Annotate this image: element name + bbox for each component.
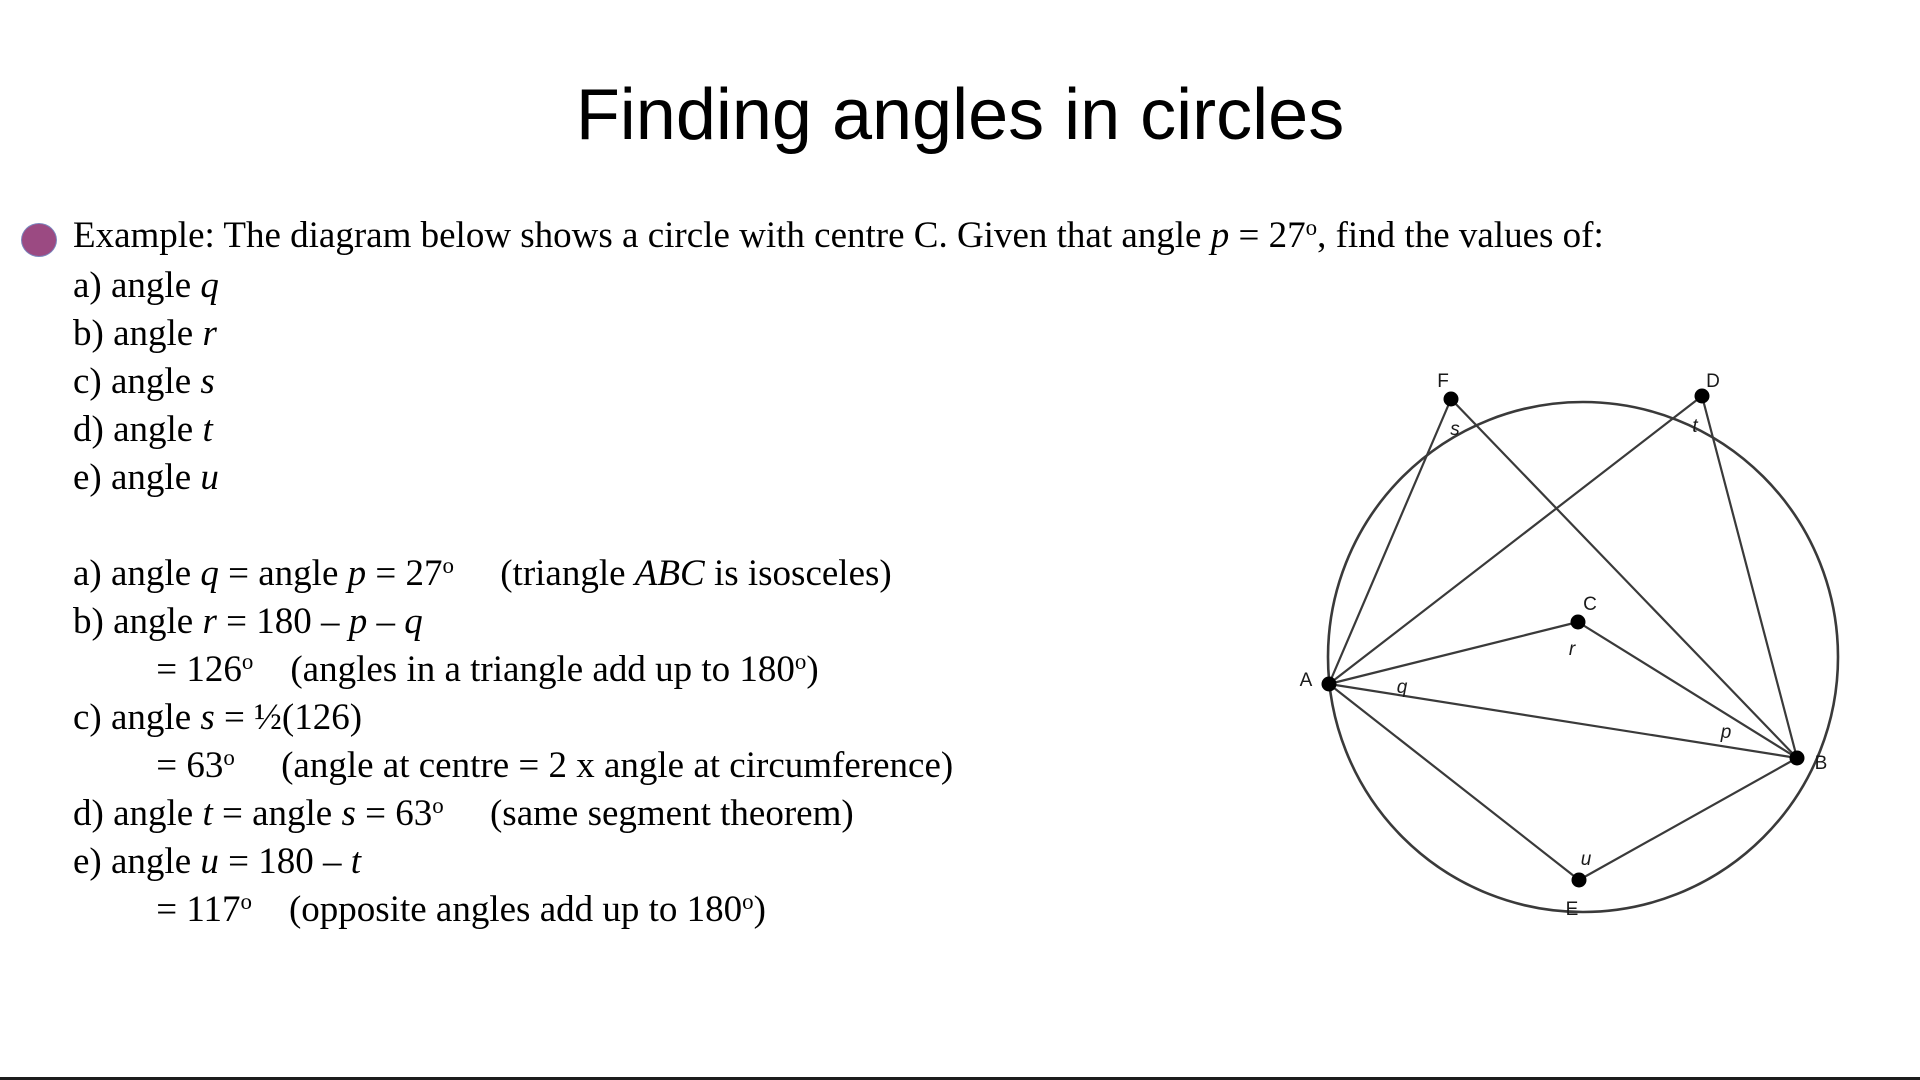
- solution-a-gap: (triangle: [454, 553, 635, 594]
- question-item-b-var: r: [202, 313, 216, 354]
- degree-symbol: o: [432, 793, 443, 818]
- chord-ae: [1329, 684, 1579, 880]
- point-d-label: D: [1706, 371, 1720, 392]
- question-item-e-label: e) angle: [73, 457, 200, 498]
- angle-label-s: s: [1450, 419, 1460, 440]
- question-item-a-var: q: [200, 265, 219, 306]
- solution-b2-p2: (angles in a triangle add up to 180: [253, 649, 795, 690]
- point-f-label: F: [1437, 371, 1449, 392]
- question-prompt-pre: Example: The diagram below shows a circl…: [73, 215, 1211, 256]
- solution-c-p1: c) angle: [73, 697, 200, 738]
- solution-b2-p3: ): [806, 649, 818, 690]
- point-b-label: B: [1815, 753, 1828, 774]
- point-c-dot: [1571, 615, 1586, 630]
- solution-c-p2: = ½(126): [215, 697, 362, 738]
- question-item-d-var: t: [202, 409, 212, 450]
- solution-b2-p1: = 126: [73, 649, 242, 690]
- angle-label-p: p: [1720, 722, 1732, 743]
- solution-d-v1: t: [202, 793, 212, 834]
- point-e-dot: [1572, 873, 1587, 888]
- question-item-c-label: c) angle: [73, 361, 200, 402]
- question-prompt-mid: = 27: [1229, 215, 1305, 256]
- degree-symbol: o: [795, 649, 806, 674]
- solution-b-p1: b) angle: [73, 601, 202, 642]
- solution-a-v2: p: [348, 553, 367, 594]
- solution-b-v3: q: [404, 601, 423, 642]
- solution-d-p1: d) angle: [73, 793, 202, 834]
- chord-bf: [1451, 399, 1797, 758]
- chord-ad: [1329, 396, 1702, 684]
- solution-a-p1: a) angle: [73, 553, 200, 594]
- solution-e2-p3: ): [754, 889, 766, 930]
- chord-bc: [1578, 622, 1797, 758]
- degree-symbol: o: [223, 745, 234, 770]
- question-prompt-var: p: [1211, 215, 1230, 256]
- degree-symbol: o: [443, 553, 454, 578]
- degree-symbol: o: [1306, 215, 1317, 240]
- chord-bd: [1702, 396, 1797, 758]
- circle-diagram: ABCDEFpqrstu: [1280, 340, 1900, 960]
- filled-circle-bullet-icon: [21, 223, 57, 257]
- question-prompt-post: , find the values of:: [1317, 215, 1604, 256]
- solution-a-v1: q: [200, 553, 219, 594]
- question-bullet-row: Example: The diagram below shows a circl…: [18, 212, 1898, 262]
- point-b-dot: [1790, 751, 1805, 766]
- solution-b-p3: –: [367, 601, 404, 642]
- solution-e-v2: t: [351, 841, 361, 882]
- question-item-b-label: b) angle: [73, 313, 202, 354]
- angle-label-r: r: [1569, 639, 1576, 660]
- angle-label-t: t: [1692, 416, 1698, 437]
- solution-d-v2: s: [341, 793, 355, 834]
- question-item-e-var: u: [200, 457, 219, 498]
- solution-c-v1: s: [200, 697, 214, 738]
- point-c-label: C: [1583, 594, 1597, 615]
- degree-symbol: o: [742, 889, 753, 914]
- solution-e2-p2: (opposite angles add up to 180: [252, 889, 742, 930]
- angle-label-q: q: [1397, 677, 1408, 698]
- angle-label-u: u: [1581, 849, 1592, 870]
- solution-c2-p2: (angle at centre = 2 x angle at circumfe…: [235, 745, 953, 786]
- solution-a-p4: is isosceles): [705, 553, 892, 594]
- solution-a-p2: = angle: [219, 553, 348, 594]
- chord-be: [1579, 758, 1797, 880]
- solution-e-p1: e) angle: [73, 841, 200, 882]
- point-a-dot: [1322, 677, 1337, 692]
- question-item-c-var: s: [200, 361, 214, 402]
- solution-a-v3: ABC: [635, 553, 705, 594]
- circle-outline: [1328, 402, 1838, 912]
- point-a-label: A: [1300, 670, 1313, 691]
- solution-a-p3: = 27: [366, 553, 442, 594]
- chord-ac: [1329, 622, 1578, 684]
- solution-d-p4: (same segment theorem): [444, 793, 854, 834]
- question-prompt: Example: The diagram below shows a circl…: [18, 212, 1898, 260]
- degree-symbol: o: [242, 649, 253, 674]
- solution-b-v1: r: [202, 601, 216, 642]
- solution-d-p3: = 63: [356, 793, 432, 834]
- chord-af: [1329, 399, 1451, 684]
- solution-e2-p1: = 117: [73, 889, 241, 930]
- solution-b-v2: p: [349, 601, 368, 642]
- circle-diagram-svg: ABCDEFpqrstu: [1280, 340, 1900, 960]
- solution-d-p2: = angle: [213, 793, 342, 834]
- question-item-d-label: d) angle: [73, 409, 202, 450]
- question-item-a: a) angle q: [18, 262, 1898, 310]
- page-title: Finding angles in circles: [0, 78, 1920, 154]
- solution-e-p2: = 180 –: [219, 841, 351, 882]
- degree-symbol: o: [241, 889, 252, 914]
- solution-b-p2: = 180 –: [217, 601, 349, 642]
- slide-canvas: Finding angles in circles Example: The d…: [0, 0, 1920, 1080]
- point-f-dot: [1444, 392, 1459, 407]
- question-item-a-label: a) angle: [73, 265, 200, 306]
- solution-c2-p1: = 63: [73, 745, 223, 786]
- solution-e-v1: u: [200, 841, 219, 882]
- point-e-label: E: [1566, 899, 1579, 920]
